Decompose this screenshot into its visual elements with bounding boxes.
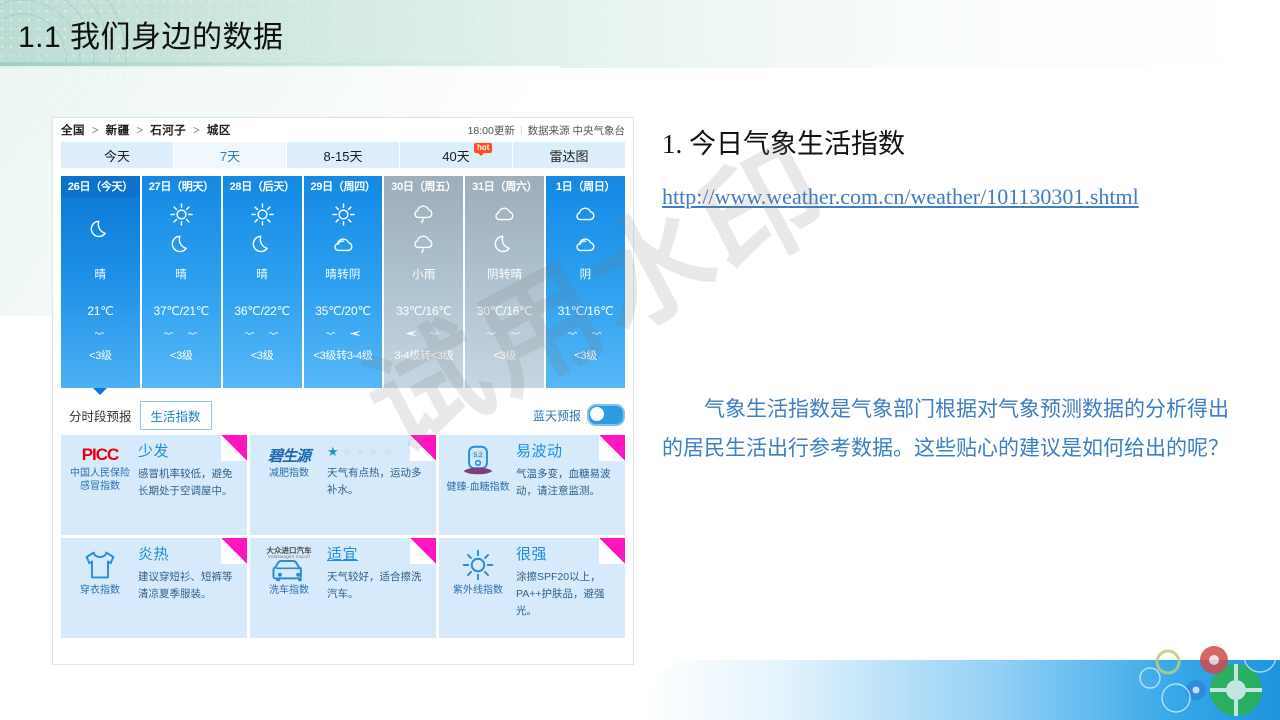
- divider: |: [520, 124, 523, 136]
- breadcrumb-item-0[interactable]: 全国: [61, 125, 85, 137]
- tab-label: 8-15天: [323, 146, 362, 165]
- breadcrumb-item-3[interactable]: 城区: [207, 125, 231, 137]
- forecast-wind-icons: [324, 329, 363, 341]
- corner-ribbon-icon: [599, 538, 625, 564]
- cloud-icon: [491, 201, 518, 228]
- forecast-date: 26日（今天）: [61, 176, 140, 198]
- forecast-column[interactable]: 31日（周六） 阴转晴 30℃/16℃ <3级: [465, 176, 544, 388]
- forecast-weather-icons: [491, 198, 518, 260]
- life-index-card[interactable]: 大众进口汽车Volkswagen Import 洗车指数 适宜 天气较好，适合擦…: [250, 538, 436, 638]
- wind-wave-icon: [186, 326, 201, 344]
- index-description: 涂擦SPF20以上，PA++护肤品，避强光。: [516, 569, 618, 621]
- tab-label: 今天: [104, 146, 130, 165]
- weather-url-link[interactable]: http://www.weather.com.cn/weather/101130…: [662, 182, 1222, 212]
- corner-ribbon-icon: [221, 435, 247, 461]
- index-name-label: 穿衣指数: [80, 585, 120, 598]
- glucose-meter-icon: 5.2: [458, 444, 498, 480]
- forecast-condition: 晴: [175, 266, 187, 282]
- forecast-weather-icons: [410, 198, 437, 260]
- bluesky-forecast-control[interactable]: 蓝天预报: [533, 404, 625, 426]
- tab-40days[interactable]: 40天 hot: [400, 142, 512, 168]
- life-index-card[interactable]: PICC 中国人民保险感冒指数 少发 感冒机率较低，避免长期处于空调屋中。: [61, 435, 247, 535]
- index-brand-area: 大众进口汽车Volkswagen Import 洗车指数: [257, 547, 321, 638]
- forecast-condition: 晴: [95, 266, 107, 282]
- breadcrumb-item-2[interactable]: 石河子: [150, 125, 186, 137]
- tshirt-icon: [80, 547, 120, 583]
- index-description: 气温多变，血糖易波动，请注意监测。: [516, 466, 618, 501]
- breadcrumb-separator: >: [136, 125, 143, 137]
- forecast-weather-icons: [249, 198, 276, 260]
- forecast-wind-icons: [485, 329, 524, 341]
- wind-wave-icon: [428, 326, 443, 344]
- index-name-label: 健臻·血糖指数: [446, 482, 509, 495]
- forecast-temperature: 37℃/21℃: [153, 304, 209, 318]
- bluesky-label: 蓝天预报: [533, 407, 581, 424]
- moon-icon: [168, 231, 195, 258]
- forecast-condition: 阴: [580, 266, 592, 282]
- forecast-temperature: 36℃/22℃: [234, 304, 290, 318]
- forecast-condition: 阴转晴: [487, 266, 522, 282]
- weather-tab-bar: 今天 7天 8-15天 40天 hot 雷达图: [61, 142, 625, 168]
- index-brand-area: 碧生源 减肥指数: [257, 444, 321, 535]
- index-brand-area: 紫外线指数: [446, 547, 510, 638]
- hot-badge: hot: [474, 143, 492, 153]
- forecast-wind-icons: [162, 329, 201, 341]
- life-index-card-grid: PICC 中国人民保险感冒指数 少发 感冒机率较低，避免长期处于空调屋中。 碧生…: [61, 435, 625, 638]
- car-icon: [268, 561, 310, 583]
- breadcrumb-separator: >: [193, 125, 200, 137]
- forecast-temperature: 30℃/16℃: [477, 304, 533, 318]
- forecast-wind-icons: [404, 329, 443, 341]
- cloudsun-icon: [330, 231, 357, 258]
- forecast-temperature: 21℃: [87, 304, 113, 318]
- moon-icon: [491, 231, 518, 258]
- moon-icon: [87, 216, 114, 243]
- section-heading: 1. 今日气象生活指数: [662, 122, 905, 161]
- forecast-wind-icons: [243, 329, 282, 341]
- cloud-icon: [572, 201, 599, 228]
- bsy-logo: 碧生源: [268, 444, 310, 466]
- rain-icon: [410, 231, 437, 258]
- forecast-date: 30日（周五）: [384, 176, 463, 198]
- update-info: 18:00更新 | 数据来源 中央气象台: [468, 123, 625, 138]
- forecast-wind-icons: [566, 329, 605, 341]
- forecast-wind-level: <3级: [493, 347, 516, 363]
- forecast-wind-level: <3级转3-4级: [313, 347, 372, 363]
- tab-label: 7天: [220, 146, 240, 165]
- forecast-date: 28日（后天）: [223, 176, 302, 198]
- wind-arrow-icon: [348, 326, 363, 344]
- life-index-card[interactable]: 穿衣指数 炎热 建议穿短衫、短裤等清凉夏季服装。: [61, 538, 247, 638]
- corner-ribbon-icon: [410, 538, 436, 564]
- life-index-card[interactable]: 紫外线指数 很强 涂擦SPF20以上，PA++护肤品，避强光。: [439, 538, 625, 638]
- forecast-weather-icons: [87, 198, 114, 260]
- breadcrumb-row: 全国 > 新疆 > 石河子 > 城区 18:00更新 | 数据来源 中央气象台: [53, 118, 633, 142]
- body-paragraph: 气象生活指数是气象部门根据对气象预测数据的分析得出的居民生活出行参考数据。这些贴…: [662, 390, 1234, 468]
- tab-radar[interactable]: 雷达图: [513, 142, 625, 168]
- subtab-hourly-forecast[interactable]: 分时段预报: [61, 402, 140, 429]
- wind-wave-icon: [267, 326, 282, 344]
- forecast-column[interactable]: 26日（今天） 晴 21℃ <3级: [61, 176, 140, 388]
- forecast-weather-icons: [330, 198, 357, 260]
- forecast-date: 1日（周日）: [546, 176, 625, 198]
- tab-label: 40天: [442, 146, 469, 165]
- wind-wave-icon: [485, 326, 500, 344]
- index-description: 天气较好，适合擦洗汽车。: [327, 569, 429, 604]
- corner-ribbon-icon: [599, 435, 625, 461]
- forecast-temperature: 35℃/20℃: [315, 304, 371, 318]
- forecast-wind-level: <3级: [170, 347, 193, 363]
- forecast-wind-level: <3级: [574, 347, 597, 363]
- forecast-wind-level: <3级: [89, 347, 112, 363]
- forecast-weather-icons: [572, 198, 599, 260]
- gears-decoration: [1110, 628, 1280, 720]
- breadcrumb-separator: >: [92, 125, 99, 137]
- sun-icon: [330, 201, 357, 228]
- breadcrumb[interactable]: 全国 > 新疆 > 石河子 > 城区: [61, 122, 231, 138]
- wind-wave-icon: [162, 326, 177, 344]
- corner-ribbon-icon: [221, 538, 247, 564]
- forecast-condition: 晴转阴: [325, 266, 360, 282]
- update-time: 18:00更新: [468, 123, 515, 138]
- forecast-date: 29日（周四）: [304, 176, 383, 198]
- tab-today[interactable]: 今天: [61, 142, 173, 168]
- wind-wave-icon: [566, 326, 581, 344]
- wind-arrow-icon: [404, 326, 419, 344]
- tab-8-15days[interactable]: 8-15天: [287, 142, 399, 168]
- index-description: 感冒机率较低，避免长期处于空调屋中。: [138, 466, 240, 501]
- cloudsun-icon: [572, 231, 599, 258]
- forecast-weather-icons: [168, 198, 195, 260]
- tab-label: 雷达图: [549, 146, 588, 165]
- index-brand-area: 5.2 健臻·血糖指数: [446, 444, 510, 535]
- wind-wave-icon: [93, 326, 108, 344]
- index-description: 天气有点热，运动多补水。: [327, 465, 429, 500]
- weather-subtab-bar: 分时段预报 生活指数 蓝天预报: [61, 400, 625, 430]
- index-brand-area: 穿衣指数: [68, 547, 132, 638]
- subtab-life-index[interactable]: 生活指数: [140, 401, 212, 430]
- forecast-wind-icons: [93, 329, 108, 341]
- life-index-card[interactable]: 碧生源 减肥指数 ★★★★★ 天气有点热，运动多补水。: [250, 435, 436, 535]
- page-title: 1.1 我们身边的数据: [18, 12, 284, 56]
- picc-logo: PICC: [82, 444, 119, 466]
- forecast-strip: 26日（今天） 晴 21℃ <3级27日（明天） 晴 37℃/21℃ <3级28…: [61, 176, 625, 388]
- index-name-label: 中国人民保险感冒指数: [70, 468, 130, 493]
- forecast-column[interactable]: 30日（周五） 小雨 33℃/16℃ 3-4级转<3级: [384, 176, 463, 388]
- svg-text:5.2: 5.2: [474, 452, 483, 459]
- wind-wave-icon: [590, 326, 605, 344]
- forecast-temperature: 31℃/16℃: [558, 304, 614, 318]
- weather-widget: 全国 > 新疆 > 石河子 > 城区 18:00更新 | 数据来源 中央气象台 …: [52, 117, 634, 665]
- wind-wave-icon: [324, 326, 339, 344]
- wind-wave-icon: [243, 326, 258, 344]
- life-index-card[interactable]: 5.2 健臻·血糖指数 易波动 气温多变，血糖易波动，请注意监测。: [439, 435, 625, 535]
- sun-icon: [459, 547, 497, 583]
- forecast-date: 27日（明天）: [142, 176, 221, 198]
- forecast-condition: 小雨: [412, 266, 436, 282]
- tab-7days[interactable]: 7天: [174, 142, 286, 168]
- breadcrumb-item-1[interactable]: 新疆: [106, 125, 130, 137]
- index-brand-area: PICC 中国人民保险感冒指数: [68, 444, 132, 535]
- bluesky-toggle[interactable]: [587, 404, 625, 426]
- sun-icon: [249, 201, 276, 228]
- sun-icon: [168, 201, 195, 228]
- data-source: 数据来源 中央气象台: [528, 123, 625, 138]
- index-description: 建议穿短衫、短裤等清凉夏季服装。: [138, 569, 240, 604]
- forecast-wind-level: <3级: [251, 347, 274, 363]
- rain-icon: [410, 201, 437, 228]
- forecast-date: 31日（周六）: [465, 176, 544, 198]
- index-name-label: 紫外线指数: [453, 585, 503, 598]
- index-name-label: 减肥指数: [269, 468, 309, 481]
- index-name-label: 洗车指数: [269, 585, 309, 598]
- forecast-temperature: 33℃/16℃: [396, 304, 452, 318]
- forecast-column[interactable]: 29日（周四） 晴转阴 35℃/20℃ <3级转3-4级: [304, 176, 383, 388]
- forecast-column[interactable]: 1日（周日） 阴 31℃/16℃ <3级: [546, 176, 625, 388]
- moon-icon: [249, 231, 276, 258]
- forecast-wind-level: 3-4级转<3级: [394, 347, 453, 363]
- forecast-column[interactable]: 28日（后天） 晴 36℃/22℃ <3级: [223, 176, 302, 388]
- forecast-column[interactable]: 27日（明天） 晴 37℃/21℃ <3级: [142, 176, 221, 388]
- corner-ribbon-icon: [410, 435, 436, 461]
- forecast-condition: 晴: [256, 266, 268, 282]
- wind-wave-icon: [509, 326, 524, 344]
